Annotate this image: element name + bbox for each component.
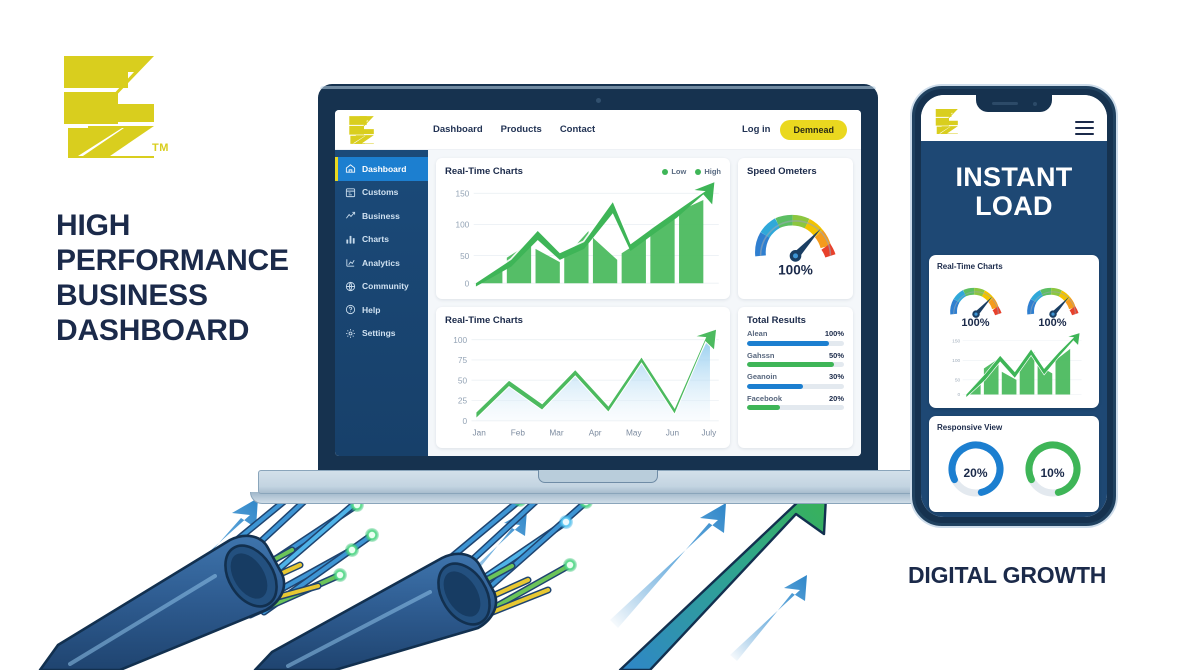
nav-links: Dashboard Products Contact bbox=[433, 124, 595, 135]
sidebar-item-settings[interactable]: Settings bbox=[335, 322, 428, 346]
svg-text:100: 100 bbox=[952, 358, 960, 364]
nav-logo-icon[interactable] bbox=[347, 115, 381, 145]
speedometer-gauge: 100% bbox=[747, 180, 844, 291]
nav-link-dashboard[interactable]: Dashboard bbox=[433, 124, 483, 135]
svg-text:50: 50 bbox=[460, 251, 470, 261]
card-realtime-chart-top: Real-Time Charts Low High bbox=[436, 158, 730, 299]
result-label: Alean bbox=[747, 329, 767, 338]
card-title: Real-Time Charts bbox=[937, 262, 1091, 271]
svg-text:0: 0 bbox=[465, 279, 470, 289]
analytics-icon bbox=[345, 257, 356, 268]
result-label: Geanoin bbox=[747, 372, 777, 381]
sidebar-label: Business bbox=[362, 211, 400, 221]
trend-up-icon bbox=[345, 210, 356, 221]
hamburger-icon[interactable] bbox=[1075, 121, 1094, 136]
realtime-line-chart-bottom: 1007550250 JanFebMar AprMayJunJuly bbox=[445, 329, 721, 440]
gauge-area: 100% bbox=[747, 180, 844, 291]
card-total-results: Total Results Alean 100% bbox=[738, 307, 853, 448]
sidebar-label: Settings bbox=[362, 328, 396, 338]
svg-text:50: 50 bbox=[955, 378, 961, 384]
phone-screen: INSTANT LOAD Real-Time Charts bbox=[921, 95, 1107, 517]
progress-track bbox=[747, 341, 844, 346]
result-row-head: Geanoin 30% bbox=[747, 372, 844, 381]
phone-hero: INSTANT LOAD bbox=[921, 141, 1107, 247]
gauge-icon bbox=[945, 275, 1007, 321]
phone-card-responsive-view: Responsive View 20% bbox=[929, 416, 1099, 512]
card-header: Total Results bbox=[747, 315, 844, 326]
result-row-head: Alean 100% bbox=[747, 329, 844, 338]
front-camera-icon bbox=[1033, 102, 1037, 106]
site-topnav: Dashboard Products Contact Log in Demnea… bbox=[335, 110, 861, 150]
result-label: Gahssn bbox=[747, 351, 775, 360]
sidebar-item-community[interactable]: Community bbox=[335, 275, 428, 299]
phone-mockup: INSTANT LOAD Real-Time Charts bbox=[912, 86, 1116, 526]
svg-text:May: May bbox=[626, 429, 643, 438]
phone-logo-icon[interactable] bbox=[934, 108, 964, 135]
sidebar-item-help[interactable]: Help bbox=[335, 298, 428, 322]
result-row: Geanoin 30% bbox=[747, 372, 844, 389]
svg-text:Jan: Jan bbox=[473, 429, 486, 438]
svg-text:75: 75 bbox=[458, 356, 468, 365]
dashboard-body: Dashboard Customs Business bbox=[335, 150, 861, 456]
chart-plot-area: 150100500 bbox=[445, 180, 721, 291]
legend-dot-icon bbox=[695, 169, 701, 175]
svg-text:Apr: Apr bbox=[589, 429, 602, 438]
card-header: Speed Ometers bbox=[747, 166, 844, 177]
gauge-value: 100% bbox=[778, 262, 813, 277]
svg-text:Feb: Feb bbox=[511, 429, 526, 438]
poster-canvas: TM HIGH PERFORMANCE BUSINESS DASHBOARD bbox=[0, 0, 1200, 670]
svg-text:Jun: Jun bbox=[666, 429, 679, 438]
card-realtime-chart-bottom: Real-Time Charts bbox=[436, 307, 730, 448]
result-value: 20% bbox=[829, 394, 844, 403]
progress-track bbox=[747, 384, 844, 389]
gauge-icon bbox=[1022, 275, 1084, 321]
svg-text:July: July bbox=[702, 429, 718, 438]
sidebar-label: Help bbox=[362, 305, 380, 315]
sidebar-label: Community bbox=[362, 281, 409, 291]
card-title: Speed Ometers bbox=[747, 166, 817, 177]
bar-chart-icon bbox=[345, 234, 356, 245]
card-speedometer: Speed Ometers bbox=[738, 158, 853, 299]
svg-text:150: 150 bbox=[455, 189, 469, 199]
result-value: 30% bbox=[829, 372, 844, 381]
phone-card-realtime-charts: Real-Time Charts bbox=[929, 255, 1099, 408]
svg-text:100: 100 bbox=[455, 220, 469, 230]
progress-fill bbox=[747, 362, 834, 367]
progress-fill bbox=[747, 341, 829, 346]
svg-text:Mar: Mar bbox=[549, 429, 564, 438]
card-header: Real-Time Charts Low High bbox=[445, 166, 721, 177]
result-label: Facebook bbox=[747, 394, 782, 403]
progress-fill bbox=[747, 384, 803, 389]
sidebar-item-business[interactable]: Business bbox=[335, 204, 428, 228]
card-title: Total Results bbox=[747, 315, 806, 326]
phone-notch bbox=[976, 95, 1052, 112]
nav-link-contact[interactable]: Contact bbox=[560, 124, 595, 135]
phone-card-stack: Real-Time Charts bbox=[921, 247, 1107, 517]
ring-value: 20% bbox=[945, 466, 1007, 480]
phone-ring-row: 20% 10% bbox=[937, 436, 1091, 505]
svg-text:50: 50 bbox=[458, 377, 468, 386]
legend-label: High bbox=[704, 167, 721, 176]
phone-bar-chart: 150100500 bbox=[937, 331, 1091, 401]
calendar-icon bbox=[345, 187, 356, 198]
card-title: Real-Time Charts bbox=[445, 315, 523, 326]
gear-icon bbox=[345, 328, 356, 339]
phone-gauge-2: 100% bbox=[1022, 275, 1084, 329]
globe-icon bbox=[345, 281, 356, 292]
svg-text:0: 0 bbox=[958, 392, 961, 398]
legend-item-high: High bbox=[695, 167, 721, 176]
hero-line-1: INSTANT bbox=[929, 163, 1099, 192]
cta-button[interactable]: Demnead bbox=[780, 120, 847, 140]
svg-text:150: 150 bbox=[952, 339, 960, 345]
ring-value: 10% bbox=[1022, 466, 1084, 480]
card-title: Responsive View bbox=[937, 423, 1091, 432]
svg-text:25: 25 bbox=[458, 397, 468, 406]
realtime-area-chart-top: 150100500 bbox=[445, 180, 721, 291]
nav-actions: Log in Demnead bbox=[742, 120, 847, 140]
result-row: Alean 100% bbox=[747, 329, 844, 346]
chart-plot-area: 1007550250 JanFebMar AprMayJunJuly bbox=[445, 329, 721, 440]
help-circle-icon bbox=[345, 304, 356, 315]
phone-gauge-1: 100% bbox=[945, 275, 1007, 329]
login-link[interactable]: Log in bbox=[742, 124, 771, 135]
home-icon bbox=[345, 163, 356, 174]
sidebar: Dashboard Customs Business bbox=[335, 150, 428, 456]
speaker-icon bbox=[992, 102, 1018, 105]
phone-gauge-row: 100% bbox=[937, 275, 1091, 329]
result-value: 50% bbox=[829, 351, 844, 360]
result-row-head: Facebook 20% bbox=[747, 394, 844, 403]
laptop-screen: Dashboard Products Contact Log in Demnea… bbox=[335, 110, 861, 456]
results-list: Alean 100% Gahssn 50% bbox=[747, 329, 844, 415]
trademark-symbol: TM bbox=[152, 142, 169, 154]
svg-text:100: 100 bbox=[453, 336, 467, 345]
phone-ring-2: 10% bbox=[1022, 438, 1084, 505]
progress-track bbox=[747, 362, 844, 367]
sidebar-item-charts[interactable]: Charts bbox=[335, 228, 428, 252]
result-row-head: Gahssn 50% bbox=[747, 351, 844, 360]
result-value: 100% bbox=[825, 329, 844, 338]
sidebar-label: Dashboard bbox=[362, 164, 406, 174]
card-title: Real-Time Charts bbox=[445, 166, 523, 177]
legend-item-low: Low bbox=[662, 167, 686, 176]
sidebar-label: Analytics bbox=[362, 258, 400, 268]
dashboard-content: Real-Time Charts Low High bbox=[428, 150, 861, 456]
legend-dot-icon bbox=[662, 169, 668, 175]
footer-caption: DIGITAL GROWTH bbox=[908, 562, 1106, 589]
nav-link-products[interactable]: Products bbox=[501, 124, 542, 135]
legend-label: Low bbox=[671, 167, 686, 176]
card-header: Real-Time Charts bbox=[445, 315, 721, 326]
phone-ring-1: 20% bbox=[945, 438, 1007, 505]
sidebar-item-customs[interactable]: Customs bbox=[335, 181, 428, 205]
result-row: Gahssn 50% bbox=[747, 351, 844, 368]
sidebar-item-dashboard[interactable]: Dashboard bbox=[335, 157, 428, 181]
sidebar-item-analytics[interactable]: Analytics bbox=[335, 251, 428, 275]
progress-fill bbox=[747, 405, 780, 410]
progress-track bbox=[747, 405, 844, 410]
trackpad-notch bbox=[538, 470, 658, 483]
sidebar-label: Customs bbox=[362, 187, 398, 197]
result-row: Facebook 20% bbox=[747, 394, 844, 411]
laptop-mockup: Dashboard Products Contact Log in Demnea… bbox=[318, 84, 878, 474]
svg-text:0: 0 bbox=[462, 417, 467, 426]
webcam-icon bbox=[596, 98, 601, 103]
chart-legend: Low High bbox=[662, 167, 721, 176]
hero-line-2: LOAD bbox=[929, 192, 1099, 221]
sidebar-label: Charts bbox=[362, 234, 389, 244]
